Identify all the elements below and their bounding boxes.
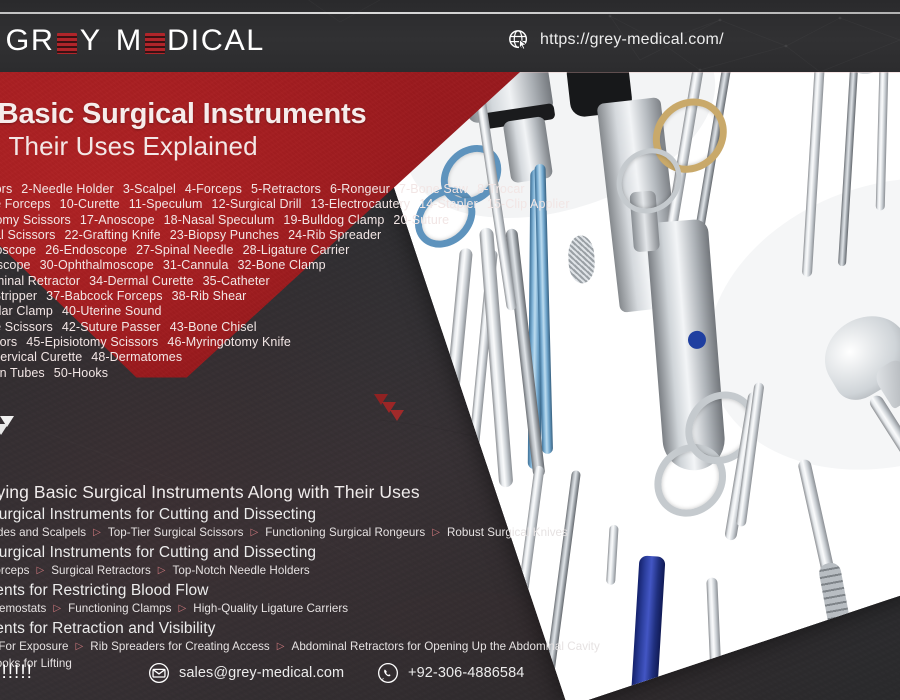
poster-canvas: 50 Basic Surgical Instruments and Their … — [0, 0, 900, 700]
globe-cursor-icon — [508, 29, 530, 51]
phone-text: +92-306-4886584 — [408, 665, 524, 681]
instrument-item: 7-Bone Saw — [399, 182, 468, 196]
instrument-list-row: -Vein Stripper37-Babcock Forceps38-Rib S… — [0, 289, 480, 304]
classification-block: lassifying Basic Surgical Instruments Al… — [0, 482, 656, 672]
instrument-item: 17-Anoscope — [80, 213, 155, 227]
classification-section-items: rgical Forceps▷Surgical Retractors▷Top-N… — [0, 563, 656, 579]
banner-headline: 50 Basic Surgical Instruments and Their … — [0, 98, 428, 162]
instrument-list-row: -Tenotomy Scissors17-Anoscope18-Nasal Sp… — [0, 213, 480, 228]
classification-item: tractors For Exposure — [0, 639, 69, 655]
footer-bar: y !!!!! sales@grey-medical.com +92-306-4… — [0, 658, 900, 700]
instrument-item: 10-Curette — [60, 197, 120, 211]
instrument-list-row: -Endocervical Curette48-Dermatomes — [0, 350, 480, 365]
bullet-arrow-icon: ▷ — [53, 601, 61, 617]
instrument-list-row: -Scissors2-Needle Holder3-Scalpel4-Force… — [0, 182, 480, 197]
classification-title: lassifying Basic Surgical Instruments Al… — [0, 482, 656, 503]
instrument-number-list: -Scissors2-Needle Holder3-Scalpel4-Force… — [0, 182, 480, 381]
instrument-item: 23-Biopsy Punches — [170, 228, 279, 242]
instrument-item: 34-Dermal Curette — [89, 274, 194, 288]
header-bar: A GR Y M DICAL https://grey-medical.com/ — [0, 0, 900, 72]
email-envelope-icon — [148, 662, 170, 684]
instrument-list-row: -Retinal Scissors22-Grafting Knife23-Bio… — [0, 228, 480, 243]
white-triangles-icon — [0, 412, 32, 442]
instrument-list-row: -Gastroscope26-Endoscope27-Spinal Needle… — [0, 243, 480, 258]
classification-item: ality Blades and Scalpels — [0, 525, 86, 541]
instrument-item: 27-Spinal Needle — [136, 243, 234, 257]
bullet-arrow-icon: ▷ — [158, 563, 166, 579]
instrument-item: -Tenotomy Scissors — [0, 213, 71, 227]
instrument-item: 3-Scalpel — [123, 182, 176, 196]
classification-section-heading: asic Surgical Instruments for Cutting an… — [0, 505, 656, 524]
classification-section-heading: struments for Retraction and Visibility — [0, 619, 656, 638]
instrument-item: -Vascular Clamp — [0, 304, 53, 318]
instrument-item: -Tissue Forceps — [0, 197, 51, 211]
instrument-item: 38-Rib Shear — [172, 289, 247, 303]
instrument-item: -Cystoscope — [0, 258, 31, 272]
bullet-arrow-icon: ▷ — [37, 563, 45, 579]
whatsapp-icon — [377, 662, 399, 684]
instrument-item: 30-Ophthalmoscope — [40, 258, 154, 272]
instrument-item: -Endocervical Curette — [0, 350, 82, 364]
instrument-item: 19-Bulldog Clamp — [283, 213, 384, 227]
instrument-item: 11-Speculum — [129, 197, 203, 211]
contact-email[interactable]: sales@grey-medical.com — [148, 662, 344, 684]
classification-item: Robust Surgical Knives — [447, 525, 568, 541]
bullet-arrow-icon: ▷ — [179, 601, 187, 617]
classification-item: High-Quality Ligature Carriers — [193, 601, 348, 617]
instrument-item: 46-Myringotomy Knife — [167, 335, 291, 349]
instrument-item: 6-Rongeur — [330, 182, 390, 196]
instrument-item: -Abdominal Retractor — [0, 274, 80, 288]
classification-item: Rib Spreaders for Creating Access — [90, 639, 270, 655]
bullet-arrow-icon: ▷ — [432, 525, 440, 541]
instrument-item: 32-Bone Clamp — [238, 258, 326, 272]
instrument-list-row: -Suction Tubes50-Hooks — [0, 366, 480, 381]
instrument-item: 2-Needle Holder — [21, 182, 114, 196]
logo-word-medical-part2: DICAL — [167, 24, 265, 58]
instrument-item: -Elevators — [0, 335, 17, 349]
classification-item: Top-Tier Surgical Scissors — [108, 525, 244, 541]
classification-section-items: ality Blades and Scalpels▷Top-Tier Surgi… — [0, 525, 656, 541]
instrument-item: 50-Hooks — [54, 366, 108, 380]
instrument-item: -Suction Tubes — [0, 366, 45, 380]
classification-item: Abdominal Retractors for Opening Up the … — [292, 639, 600, 655]
instrument-item: 5-Retractors — [251, 182, 321, 196]
instrument-item: 45-Episiotomy Scissors — [26, 335, 158, 349]
logo-word-grey-part1: GR — [6, 24, 55, 58]
classification-item: rsatile Hemostats — [0, 601, 46, 617]
contact-phone[interactable]: +92-306-4886584 — [377, 662, 524, 684]
bullet-arrow-icon: ▷ — [277, 639, 285, 655]
bullet-arrow-icon: ▷ — [250, 525, 258, 541]
instrument-item: 8-Trocar — [477, 182, 525, 196]
classification-section-items: tractors For Exposure▷Rib Spreaders for … — [0, 639, 656, 655]
instrument-item: 43-Bone Chisel — [170, 320, 257, 334]
instrument-item: 40-Uterine Sound — [62, 304, 162, 318]
instrument-item: 14-Stapler — [419, 197, 478, 211]
instrument-item: -Retinal Scissors — [0, 228, 55, 242]
instrument-item: 22-Grafting Knife — [64, 228, 160, 242]
footer-logo-marks: !!!!! — [2, 662, 33, 684]
classification-section-heading: struments for Restricting Blood Flow — [0, 581, 656, 600]
classification-item: rgical Forceps — [0, 563, 30, 579]
header-rule — [0, 12, 900, 14]
instrument-item: 4-Forceps — [185, 182, 242, 196]
instrument-item: 15-Clip Applier — [487, 197, 570, 211]
instrument-list-row: -Cystoscope30-Ophthalmoscope31-Cannula32… — [0, 258, 480, 273]
classification-item: Surgical Retractors — [51, 563, 151, 579]
instrument-item: 12-Surgical Drill — [212, 197, 302, 211]
classification-section-items: rsatile Hemostats▷Functioning Clamps▷Hig… — [0, 601, 656, 617]
brand-logo[interactable]: A GR Y M DICAL — [0, 24, 264, 58]
classification-item: Top-Notch Needle Holders — [173, 563, 310, 579]
red-triangles-icon — [372, 392, 412, 426]
instrument-item: -Tissue Scissors — [0, 320, 53, 334]
instrument-item: 20-Suture — [393, 213, 449, 227]
instrument-item: 18-Nasal Speculum — [164, 213, 275, 227]
headline-line-1: 50 Basic Surgical Instruments — [0, 98, 428, 130]
instrument-list-row: -Abdominal Retractor34-Dermal Curette35-… — [0, 274, 480, 289]
instrument-item: 26-Endoscope — [45, 243, 127, 257]
email-text: sales@grey-medical.com — [179, 665, 344, 681]
website-url-text: https://grey-medical.com/ — [540, 31, 724, 49]
instrument-item: -Gastroscope — [0, 243, 36, 257]
instrument-item: 31-Cannula — [163, 258, 229, 272]
bullet-arrow-icon: ▷ — [93, 525, 101, 541]
instrument-item: 13-Electrocautery — [310, 197, 410, 211]
classification-section-heading: asic Surgical Instruments for Cutting an… — [0, 543, 656, 562]
instrument-item: 24-Rib Spreader — [288, 228, 381, 242]
classification-item: Functioning Surgical Rongeurs — [265, 525, 425, 541]
logo-word-grey-part2: Y — [80, 24, 102, 58]
instrument-item: 42-Suture Passer — [62, 320, 161, 334]
website-url[interactable]: https://grey-medical.com/ — [508, 29, 724, 51]
instrument-list-row: -Tissue Scissors42-Suture Passer43-Bone … — [0, 320, 480, 335]
instrument-item: -Vein Stripper — [0, 289, 37, 303]
instrument-list-row: -Vascular Clamp40-Uterine Sound — [0, 304, 480, 319]
instrument-item: 48-Dermatomes — [91, 350, 182, 364]
instrument-item: -Scissors — [0, 182, 12, 196]
logo-word-medical-part1: M — [115, 24, 142, 58]
logo-e-block-2 — [145, 33, 165, 54]
instrument-item: 37-Babcock Forceps — [46, 289, 162, 303]
instrument-list-row: -Elevators45-Episiotomy Scissors46-Myrin… — [0, 335, 480, 350]
instrument-item: 35-Catheter — [203, 274, 270, 288]
headline-line-2: and Their Uses Explained — [0, 132, 428, 162]
classification-item: Functioning Clamps — [68, 601, 171, 617]
bullet-arrow-icon: ▷ — [76, 639, 84, 655]
footer-logo[interactable]: y !!!!! — [0, 662, 33, 684]
instrument-list-row: -Tissue Forceps10-Curette11-Speculum12-S… — [0, 197, 480, 212]
instrument-item: 28-Ligature Carrier — [243, 243, 350, 257]
logo-e-block-1 — [57, 33, 77, 54]
